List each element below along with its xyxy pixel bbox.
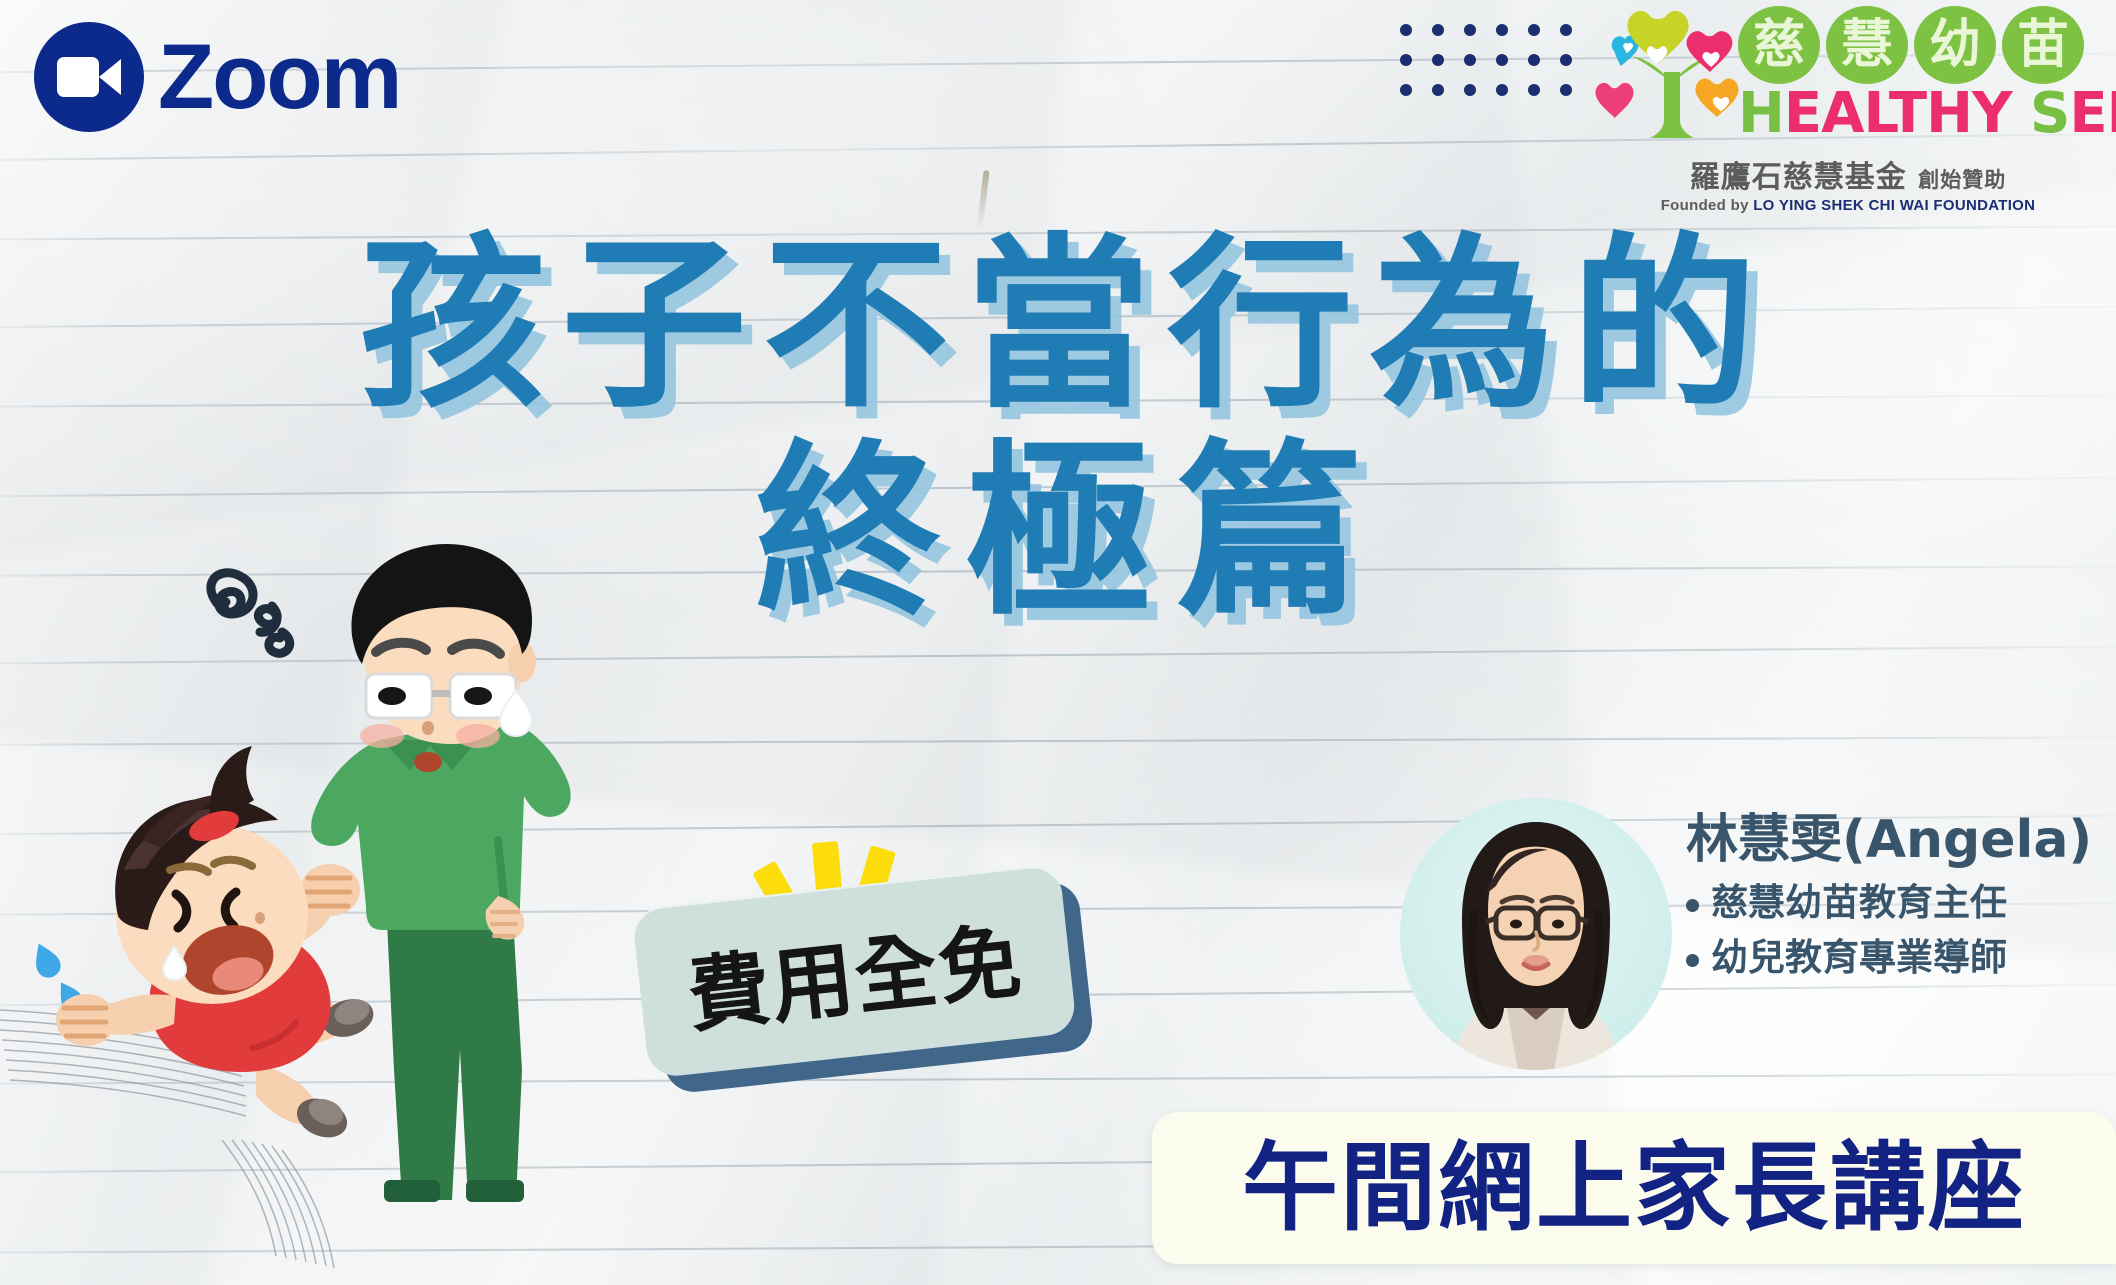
speaker-credential-2-label: 幼兒教育專業導師 (1711, 938, 2007, 979)
founder-en-prefix: Founded by (1661, 197, 1753, 214)
bullet-dot-icon (1686, 954, 1699, 967)
video-camera-icon (34, 22, 144, 132)
speaker-credential-1: 慈慧幼苗教育主任 (1686, 883, 2100, 924)
founder-en-name: LO YING SHEK CHI WAI FOUNDATION (1753, 197, 2035, 214)
event-type-label: 午間網上家長講座 (1242, 1140, 2026, 1236)
speaker-section: 林慧雯(Angela) 慈慧幼苗教育主任 幼兒教育專業導師 (1400, 790, 2100, 1080)
frustrated-parent-and-tantrum-child-illustration (0, 540, 600, 1285)
speaker-portrait-photo (1400, 798, 1672, 1070)
org-char-2: 慧 (1826, 6, 1908, 84)
en-part-3: S (2030, 81, 2069, 146)
dot-grid-decoration (1400, 24, 1592, 114)
poster-canvas: Zoom 慈 慧 幼 (0, 0, 2116, 1285)
healthy-seed-logo: 慈 慧 幼 苗 HEALTHY SEED 羅鷹石慈慧基金 創始贊助 Founde… (1588, 2, 2108, 174)
org-char-3: 幼 (1914, 6, 1996, 84)
org-name-cn-circles: 慈 慧 幼 苗 (1738, 6, 2106, 84)
heart-tree-logo-icon (1592, 6, 1752, 146)
org-char-4: 苗 (2002, 6, 2084, 84)
zoom-logo: Zoom (34, 22, 400, 132)
founder-cn-name: 羅鷹石慈慧基金 (1690, 160, 1907, 195)
bullet-dot-icon (1686, 899, 1699, 912)
title-line-1: 孩子不當行為的 (0, 228, 2116, 421)
founder-cn-suffix: 創始贊助 (1918, 168, 2006, 192)
org-name-en: HEALTHY SEED (1738, 86, 2106, 142)
en-part-2: EALTHY (1784, 81, 2012, 146)
frustration-squiggle-icon (211, 573, 290, 654)
en-part-4: EED (2069, 81, 2116, 146)
founder-credit: 羅鷹石慈慧基金 創始贊助 Founded by LO YING SHEK CHI… (1588, 152, 2108, 214)
speaker-name: 林慧雯(Angela) (1686, 812, 2100, 869)
speaker-credential-2: 幼兒教育專業導師 (1686, 938, 2100, 979)
org-char-1: 慈 (1738, 6, 1820, 84)
en-part-1: H (1738, 81, 1784, 146)
event-type-banner: 午間網上家長講座 (1152, 1112, 2116, 1264)
speaker-credential-1-label: 慈慧幼苗教育主任 (1711, 883, 2007, 924)
free-of-charge-badge: 費用全免 (631, 863, 1078, 1090)
zoom-wordmark: Zoom (158, 31, 400, 123)
